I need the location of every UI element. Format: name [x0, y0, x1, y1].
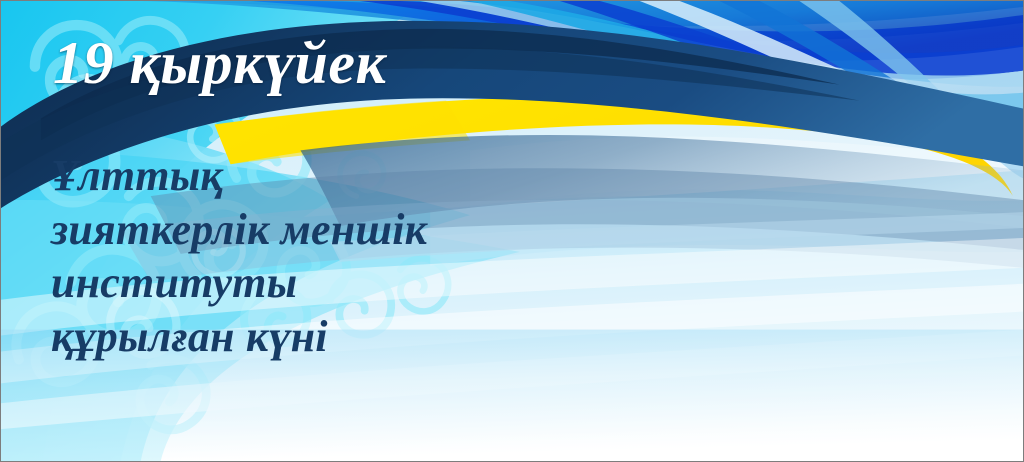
background-svg — [1, 1, 1023, 461]
commemorative-banner: 19 қыркүйек Ұлттық зияткерлік меншік инс… — [0, 0, 1024, 462]
background-artwork — [1, 1, 1023, 461]
